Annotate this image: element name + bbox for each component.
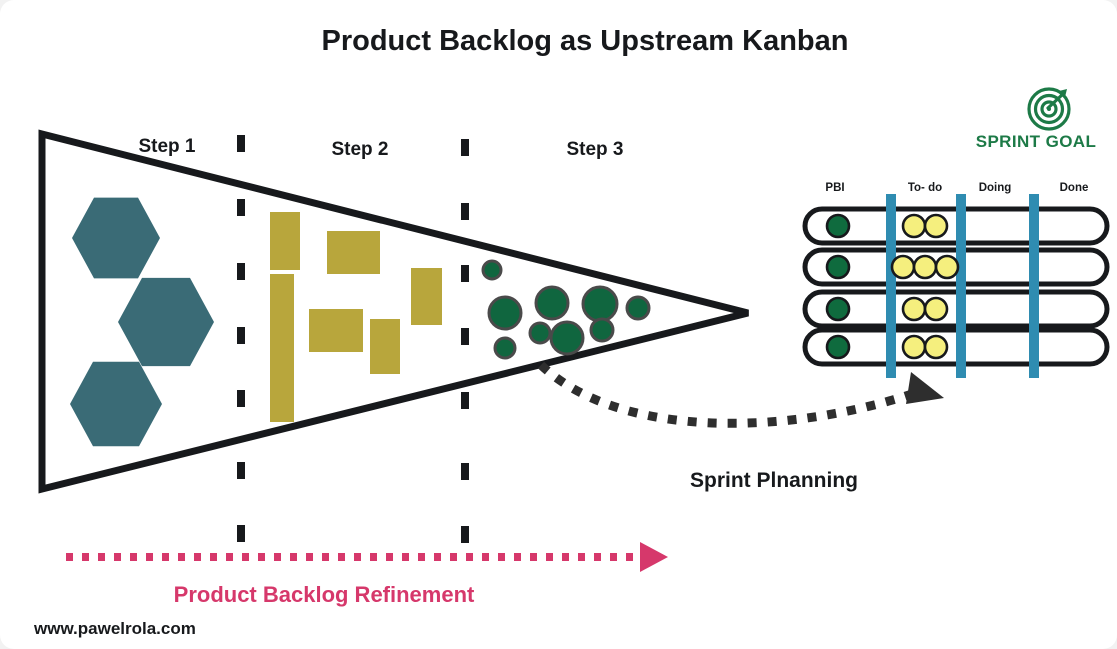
kanban-column-header-2: To- do xyxy=(908,182,942,194)
sprint-planning-arrow-head xyxy=(906,372,944,404)
step2-rectangle-6 xyxy=(411,268,442,325)
kanban-board: PBITo- doDoingDone xyxy=(805,182,1107,378)
sprint-planning-curve xyxy=(541,365,915,423)
refinement-label: Product Backlog Refinement xyxy=(174,582,475,607)
sprint-goal-label: SPRINT GOAL xyxy=(976,132,1097,151)
step1-hexagon-2 xyxy=(118,278,214,366)
step1-hexagon-3 xyxy=(70,362,162,446)
funnel-divider-dash-1-3 xyxy=(461,328,469,345)
kanban-pbi-dot-r4-1[interactable] xyxy=(827,336,849,358)
kanban-column-divider-1 xyxy=(886,194,896,378)
funnel-divider-dash-0-6 xyxy=(237,525,245,542)
funnel-divider-dash-1-4 xyxy=(461,392,469,409)
kanban-todo-dot-r1-2[interactable] xyxy=(925,215,947,237)
funnel-divider-dash-0-2 xyxy=(237,263,245,280)
funnel-divider-dash-1-5 xyxy=(461,463,469,480)
kanban-pbi-dot-r1-1[interactable] xyxy=(827,215,849,237)
kanban-todo-dot-r3-1[interactable] xyxy=(903,298,925,320)
kanban-pbi-dot-r3-1[interactable] xyxy=(827,298,849,320)
funnel-step-label-3: Step 3 xyxy=(566,139,623,160)
kanban-todo-dot-r4-1[interactable] xyxy=(903,336,925,358)
step3-circle-5 xyxy=(536,287,568,319)
kanban-column-header-3: Doing xyxy=(979,182,1012,194)
kanban-column-divider-2 xyxy=(956,194,966,378)
kanban-todo-dot-r3-2[interactable] xyxy=(925,298,947,320)
step3-circle-6 xyxy=(551,322,583,354)
funnel-divider-dash-0-4 xyxy=(237,390,245,407)
step3-circle-7 xyxy=(583,287,617,321)
step3-circle-4 xyxy=(530,323,550,343)
funnel-divider-dash-1-2 xyxy=(461,265,469,282)
step3-circle-1 xyxy=(483,261,501,279)
website-label: www.pawelrola.com xyxy=(33,619,196,638)
step1-hexagon-items xyxy=(70,198,214,447)
funnel-step-label-2: Step 2 xyxy=(331,139,388,160)
step3-circle-9 xyxy=(627,297,649,319)
kanban-todo-dot-r1-1[interactable] xyxy=(903,215,925,237)
refinement-arrow-head xyxy=(640,542,668,572)
sprint-goal-group: SPRINT GOAL xyxy=(976,89,1097,151)
kanban-diagram: Product Backlog as Upstream Kanban Step … xyxy=(0,0,1117,649)
kanban-todo-dot-r2-1[interactable] xyxy=(892,256,914,278)
funnel-divider-dash-0-3 xyxy=(237,327,245,344)
funnel-step-labels: Step 1Step 2Step 3 xyxy=(138,136,623,160)
page-title: Product Backlog as Upstream Kanban xyxy=(322,25,849,57)
funnel-step-label-1: Step 1 xyxy=(138,136,195,157)
kanban-todo-dot-r2-3[interactable] xyxy=(936,256,958,278)
step2-rectangle-3 xyxy=(327,231,380,274)
funnel-divider-dash-0-5 xyxy=(237,462,245,479)
step3-circle-3 xyxy=(495,338,515,358)
funnel-divider-dash-1-1 xyxy=(461,203,469,220)
kanban-pbi-dot-r2-1[interactable] xyxy=(827,256,849,278)
kanban-column-divider-3 xyxy=(1029,194,1039,378)
step1-hexagon-1 xyxy=(72,198,160,279)
funnel-divider-dash-0-0 xyxy=(237,135,245,152)
kanban-column-header-4: Done xyxy=(1060,182,1089,194)
kanban-todo-dot-r4-2[interactable] xyxy=(925,336,947,358)
kanban-todo-dot-r2-2[interactable] xyxy=(914,256,936,278)
step2-rectangle-5 xyxy=(370,319,400,374)
product-backlog-refinement-arrow: Product Backlog Refinement xyxy=(66,542,668,607)
funnel-divider-dash-1-6 xyxy=(461,526,469,543)
funnel-divider-dash-0-1 xyxy=(237,199,245,216)
kanban-column-headers: PBITo- doDoingDone xyxy=(825,182,1088,194)
step2-rectangle-1 xyxy=(270,212,300,270)
upstream-funnel: Step 1Step 2Step 3 xyxy=(42,134,748,543)
kanban-column-header-1: PBI xyxy=(825,182,844,194)
sprint-planning-label: Sprint Plnanning xyxy=(690,469,858,492)
sprint-planning-arrow: Sprint Plnanning xyxy=(541,365,944,492)
target-icon xyxy=(1029,89,1069,129)
funnel-divider-dash-1-0 xyxy=(461,139,469,156)
diagram-canvas: Product Backlog as Upstream Kanban Step … xyxy=(0,0,1117,649)
step3-circle-8 xyxy=(591,319,613,341)
step3-circle-2 xyxy=(489,297,521,329)
step2-rectangle-4 xyxy=(309,309,363,352)
step2-rectangle-2 xyxy=(270,274,294,422)
step2-rectangle-items xyxy=(270,212,442,422)
